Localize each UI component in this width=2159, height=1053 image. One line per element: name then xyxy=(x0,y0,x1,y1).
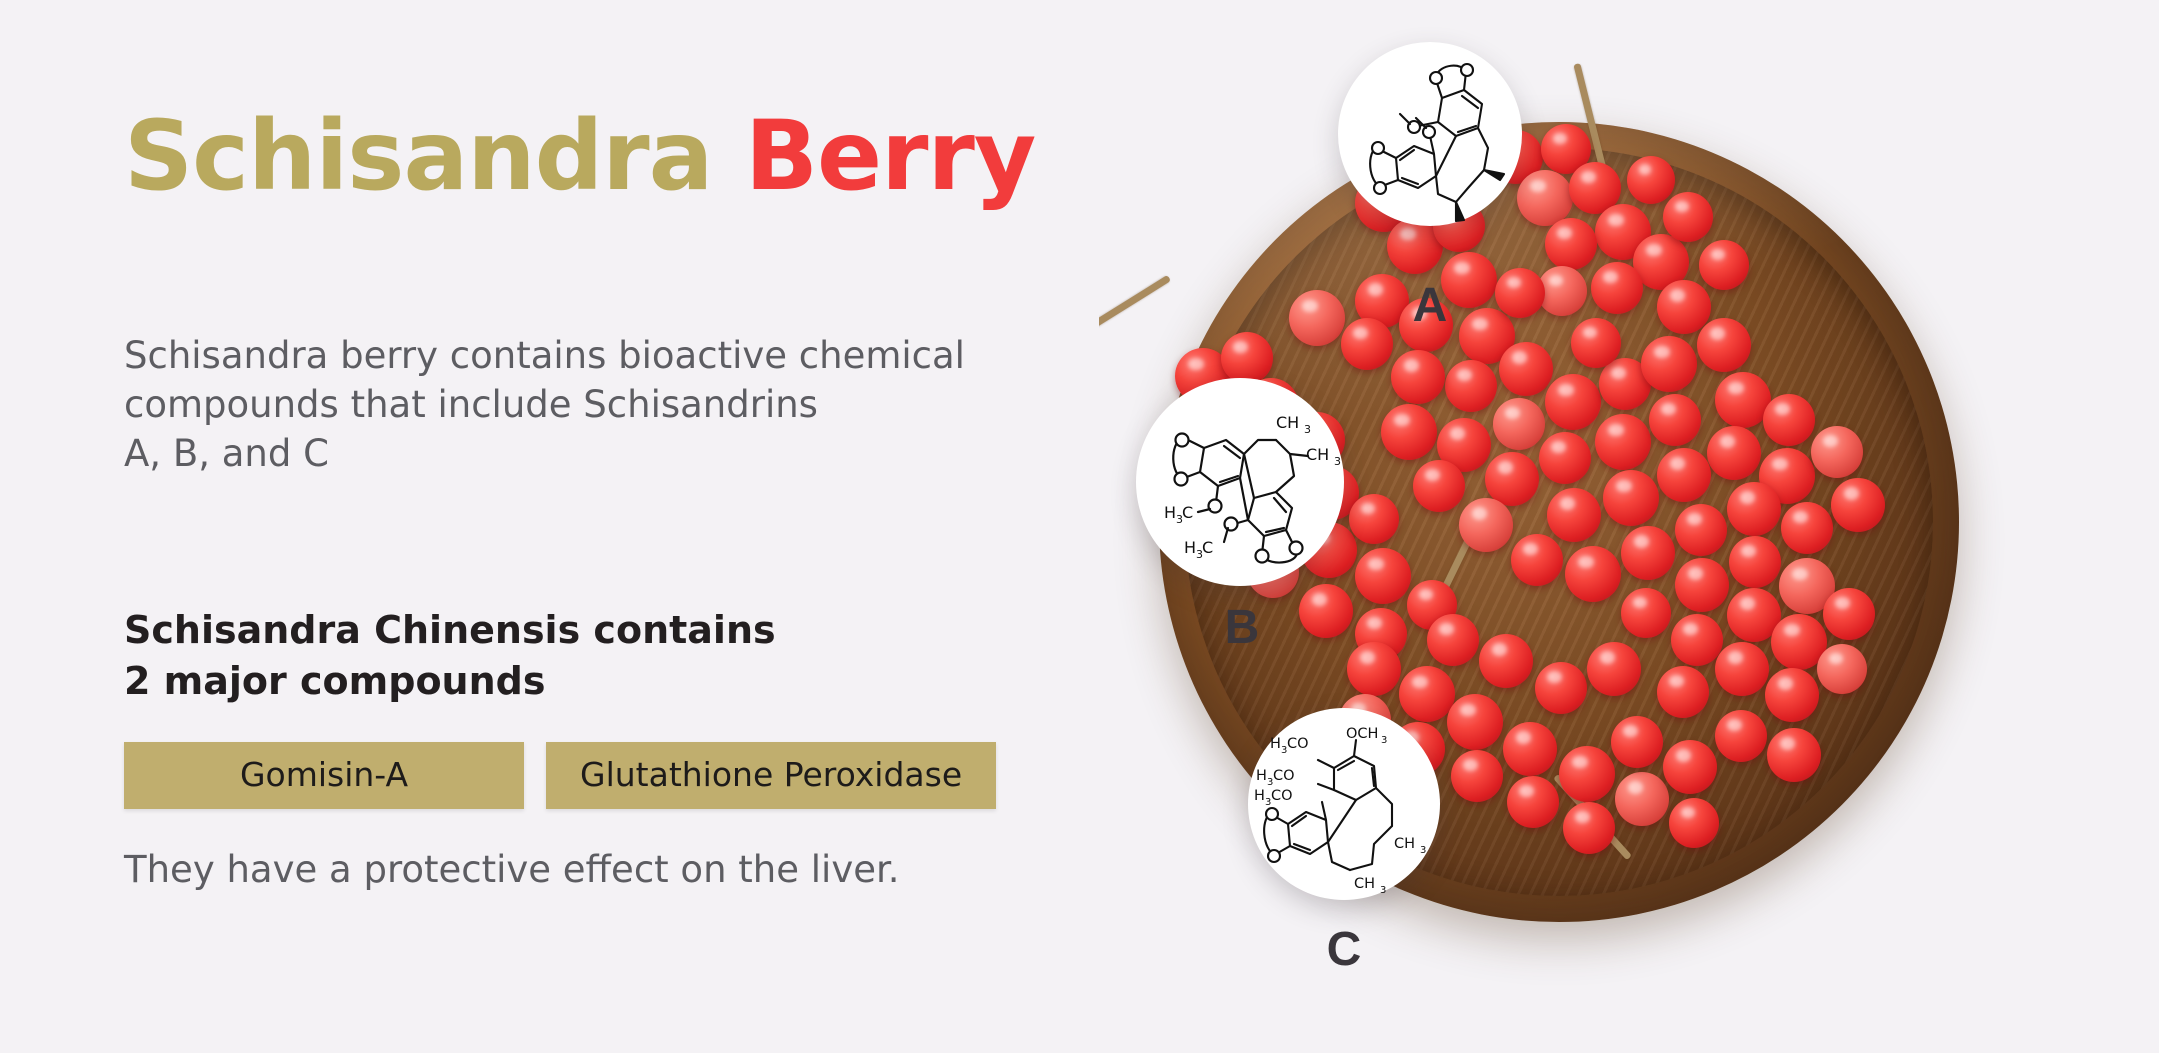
berry xyxy=(1459,498,1513,552)
text-panel: Schisandra Berry Schisandra berry contai… xyxy=(124,0,1124,1053)
berry xyxy=(1349,494,1399,544)
berry xyxy=(1545,218,1597,270)
svg-text:H: H xyxy=(1254,788,1265,804)
berry xyxy=(1767,728,1821,782)
berry xyxy=(1447,694,1503,750)
molecule-circle-c: H3CO OCH3 H3CO H3CO CH3 CH3 xyxy=(1248,708,1440,900)
berry xyxy=(1493,398,1545,450)
badge-gomisin-a: Gomisin-A xyxy=(124,742,524,809)
berry xyxy=(1563,802,1615,854)
berry xyxy=(1697,318,1751,372)
berry xyxy=(1381,404,1437,460)
berry xyxy=(1341,318,1393,370)
berry xyxy=(1591,262,1643,314)
svg-text:CO: CO xyxy=(1271,788,1293,804)
svg-text:CO: CO xyxy=(1273,768,1295,784)
berry xyxy=(1621,588,1671,638)
berry xyxy=(1615,772,1669,826)
svg-text:3: 3 xyxy=(1420,845,1426,856)
label-ch3: CH xyxy=(1276,413,1299,432)
berry xyxy=(1347,642,1401,696)
berry xyxy=(1715,642,1769,696)
berry xyxy=(1499,342,1553,396)
molecule-label-c: C xyxy=(1304,922,1384,977)
berry xyxy=(1727,482,1781,536)
subheading: Schisandra Chinensis contains 2 major co… xyxy=(124,605,1024,706)
berry xyxy=(1539,432,1591,484)
title-red-part: Berry xyxy=(745,100,1036,212)
berry xyxy=(1299,584,1353,638)
title-gold-part: Schisandra xyxy=(124,100,712,212)
berry xyxy=(1823,588,1875,640)
label-h3c: H xyxy=(1164,503,1176,522)
berry xyxy=(1663,740,1717,794)
molecule-label-a: A xyxy=(1390,278,1470,333)
berry xyxy=(1221,332,1273,384)
berry xyxy=(1445,360,1497,412)
subheading-line-2: 2 major compounds xyxy=(124,656,1024,707)
berry xyxy=(1603,470,1659,526)
closing-statement: They have a protective effect on the liv… xyxy=(124,848,900,891)
berry xyxy=(1657,280,1711,334)
svg-text:CO: CO xyxy=(1287,736,1309,752)
berry xyxy=(1571,318,1621,368)
berry xyxy=(1765,668,1819,722)
molecule-circle-a xyxy=(1338,42,1522,226)
berry xyxy=(1587,642,1641,696)
label-ch3: CH xyxy=(1306,445,1329,464)
berry xyxy=(1657,666,1709,718)
svg-text:C: C xyxy=(1202,538,1213,557)
berry xyxy=(1675,504,1727,556)
svg-text:CH: CH xyxy=(1394,836,1415,852)
berry xyxy=(1507,776,1559,828)
berry xyxy=(1595,414,1651,470)
badge-glutathione-peroxidase: Glutathione Peroxidase xyxy=(546,742,996,809)
berry xyxy=(1781,502,1833,554)
berry xyxy=(1391,350,1445,404)
svg-text:3: 3 xyxy=(1380,885,1386,896)
intro-line-1: Schisandra berry contains bioactive chem… xyxy=(124,332,1004,381)
berry xyxy=(1427,614,1479,666)
berry xyxy=(1763,394,1815,446)
berry xyxy=(1729,536,1781,588)
berry xyxy=(1657,448,1711,502)
berry xyxy=(1811,426,1863,478)
berry xyxy=(1559,746,1615,802)
berry xyxy=(1663,192,1713,242)
schisandra-berry-infographic: Schisandra Berry Schisandra berry contai… xyxy=(0,0,2159,1053)
berry xyxy=(1627,156,1675,204)
molecule-label-b: B xyxy=(1202,600,1282,655)
svg-text:3: 3 xyxy=(1381,735,1387,746)
svg-text:OCH: OCH xyxy=(1346,726,1378,742)
berry xyxy=(1413,460,1465,512)
berry xyxy=(1715,710,1767,762)
berry xyxy=(1479,634,1533,688)
svg-text:C: C xyxy=(1182,503,1193,522)
berry xyxy=(1611,716,1663,768)
svg-text:CH: CH xyxy=(1354,876,1375,892)
berry xyxy=(1669,798,1719,848)
svg-text:3: 3 xyxy=(1334,455,1341,468)
svg-text:H: H xyxy=(1270,736,1281,752)
berry xyxy=(1503,722,1557,776)
berry xyxy=(1831,478,1885,532)
berry xyxy=(1545,374,1601,430)
berry xyxy=(1621,526,1675,580)
berry xyxy=(1355,548,1411,604)
berry xyxy=(1817,644,1867,694)
berry xyxy=(1671,614,1723,666)
label-h3c: H xyxy=(1184,538,1196,557)
molecule-circle-b: CH3 CH3 H3C H3C xyxy=(1136,378,1344,586)
berry xyxy=(1511,534,1563,586)
compound-badge-row: Gomisin-A Glutathione Peroxidase xyxy=(124,742,996,809)
page-title: Schisandra Berry xyxy=(124,100,1035,212)
berry-stem xyxy=(1099,275,1171,339)
subheading-line-1: Schisandra Chinensis contains xyxy=(124,605,1024,656)
berry xyxy=(1451,750,1503,802)
berry xyxy=(1641,336,1697,392)
intro-paragraph: Schisandra berry contains bioactive chem… xyxy=(124,332,1004,478)
berry xyxy=(1485,452,1539,506)
berry xyxy=(1495,268,1545,318)
berry xyxy=(1535,662,1587,714)
berry xyxy=(1699,240,1749,290)
intro-line-2: compounds that include Schisandrins xyxy=(124,381,1004,430)
berry xyxy=(1289,290,1345,346)
intro-line-3: A, B, and C xyxy=(124,430,1004,479)
berry xyxy=(1547,488,1601,542)
svg-text:3: 3 xyxy=(1304,423,1311,436)
berry xyxy=(1707,426,1761,480)
berry xyxy=(1675,558,1729,612)
svg-text:H: H xyxy=(1256,768,1267,784)
berry xyxy=(1649,394,1701,446)
berry xyxy=(1565,546,1621,602)
